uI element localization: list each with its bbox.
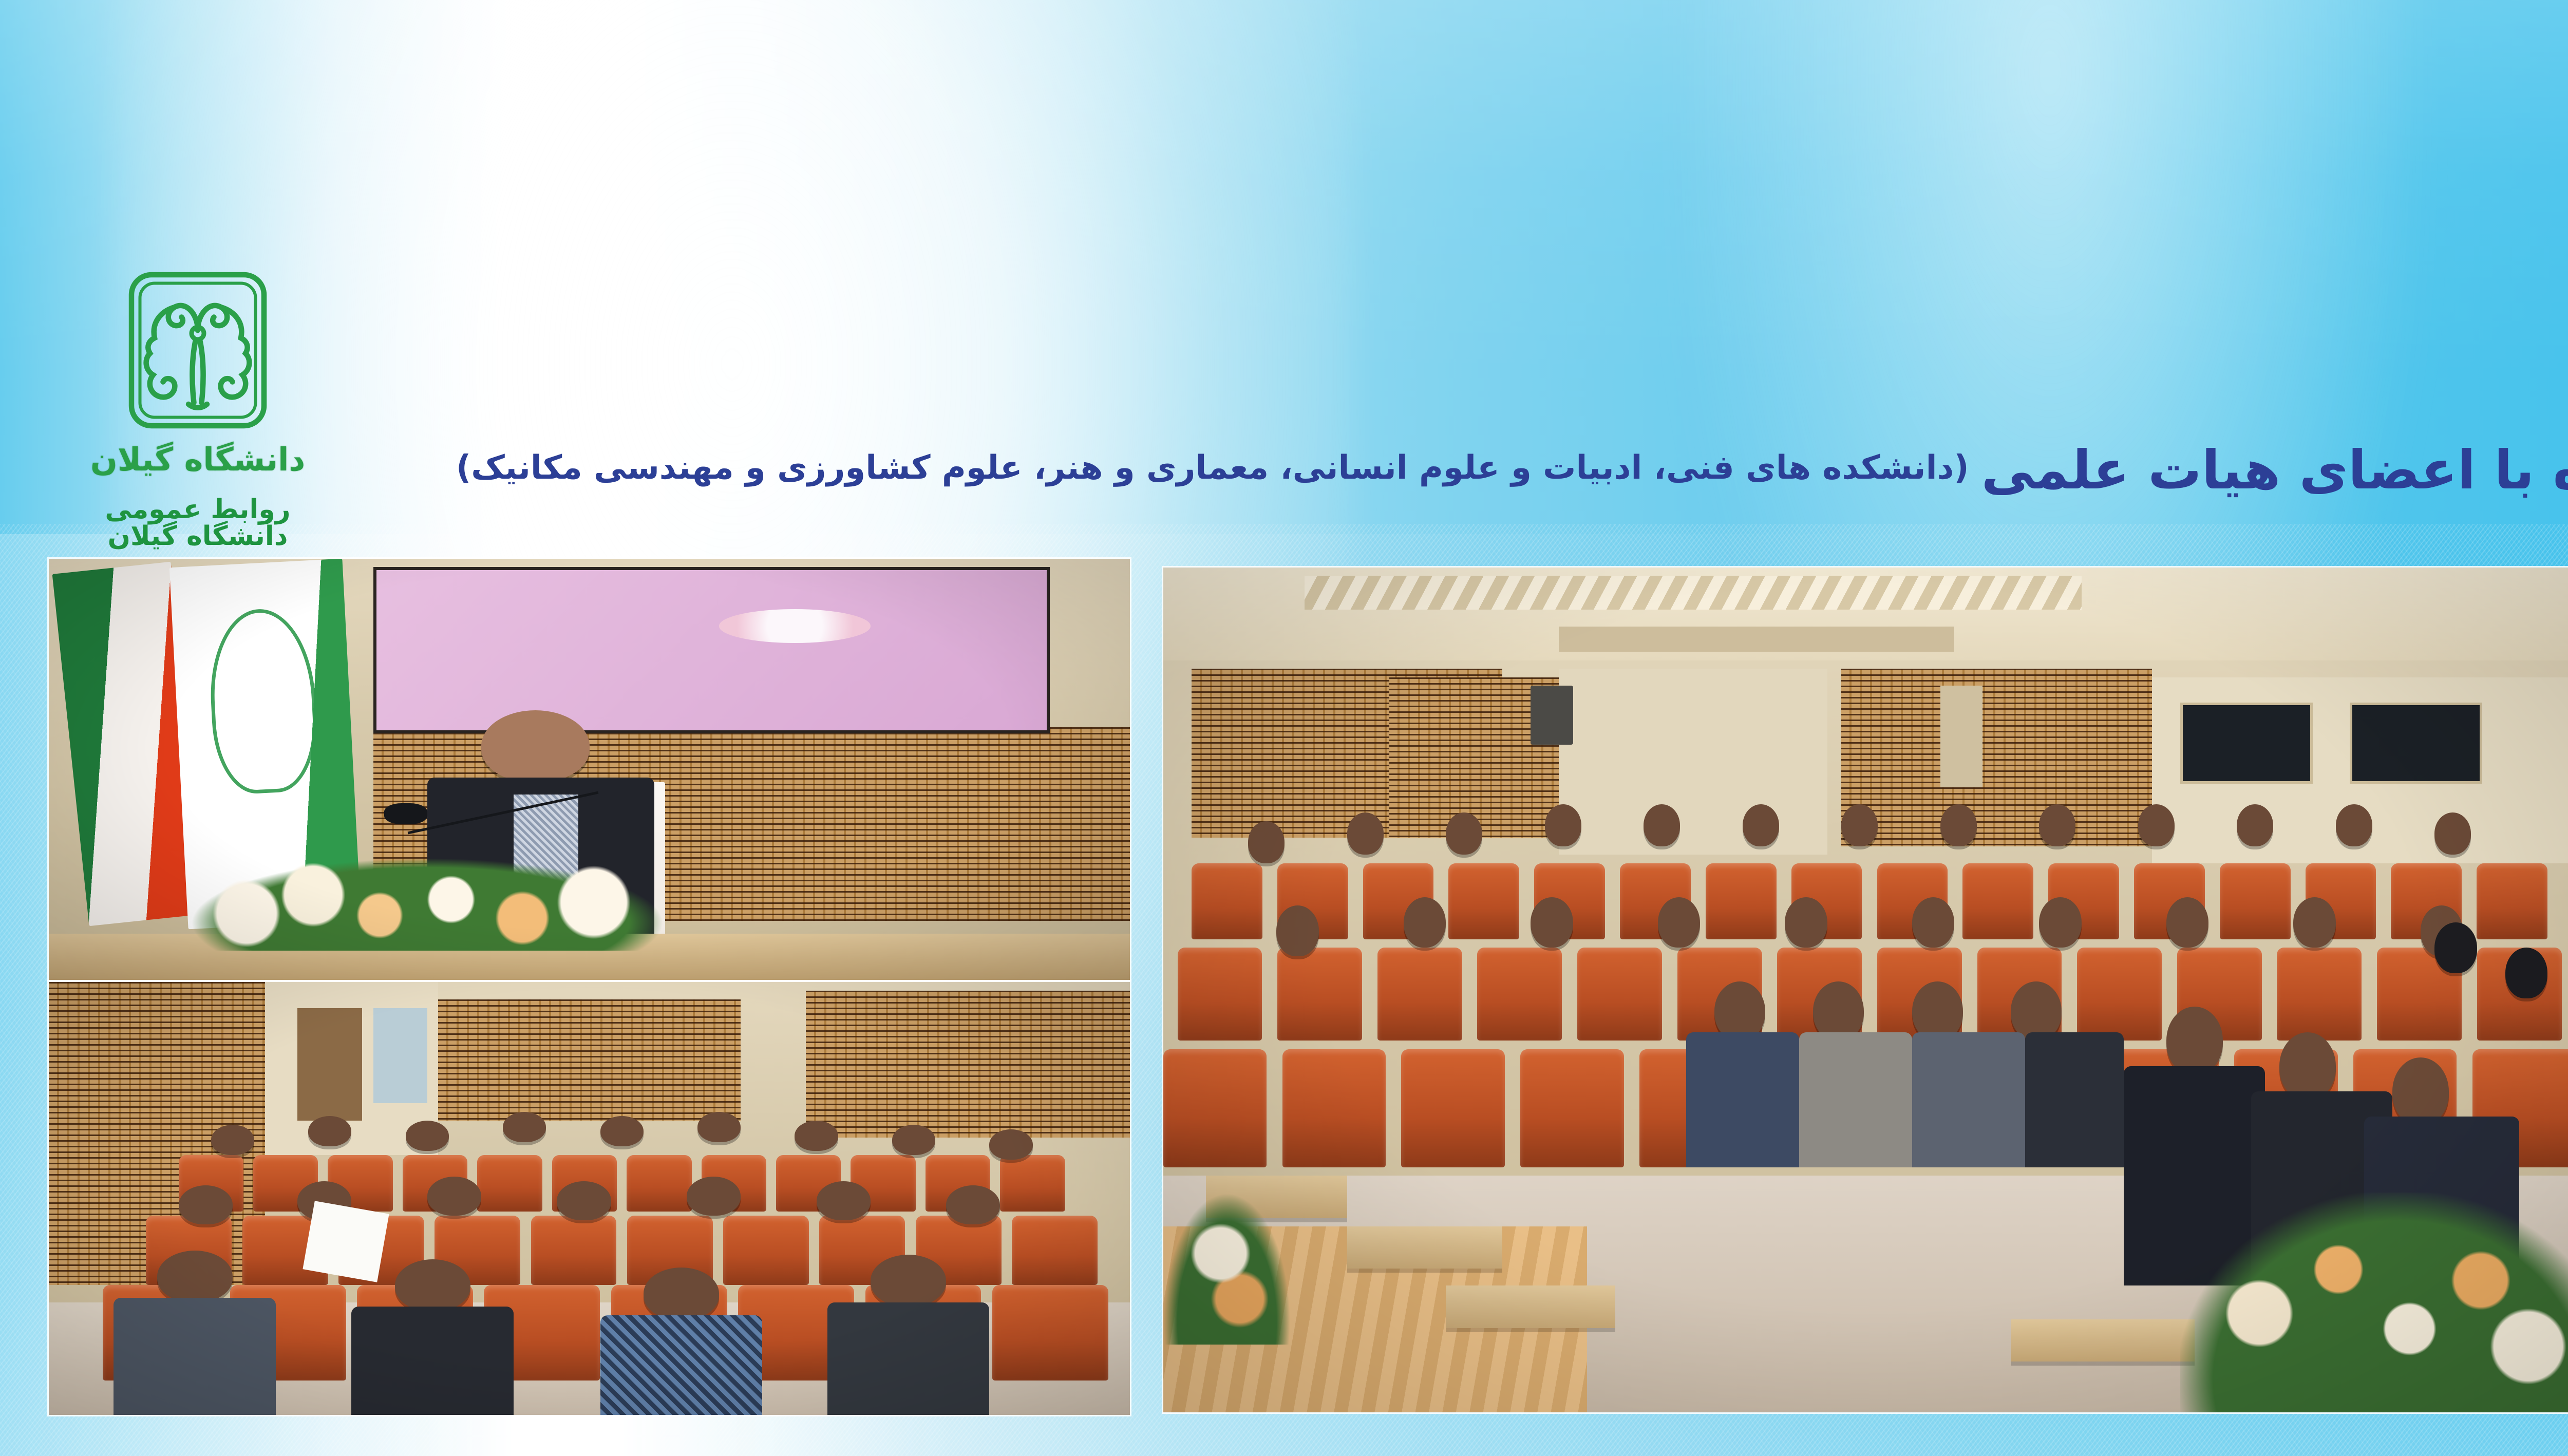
photo-hall-center: [1163, 568, 2568, 1412]
guilan-university-peacock-logo-icon: [113, 267, 282, 437]
photo-podium: [49, 559, 1130, 980]
photo-audience-left: [49, 982, 1130, 1415]
poster-title-row: نشست هم اندیشی رئیس دانشگاه با اعضای هیا…: [0, 431, 2568, 508]
poster-title-main: نشست هم اندیشی رئیس دانشگاه با اعضای هیا…: [1981, 443, 2568, 497]
poster-canvas: دانشگاه گیلان روابط عمومی دانشگاه گیلان …: [0, 0, 2568, 1456]
poster-title-parenthetical: (دانشکده های فنی، ادبیات و علوم انسانی، …: [456, 451, 1969, 488]
